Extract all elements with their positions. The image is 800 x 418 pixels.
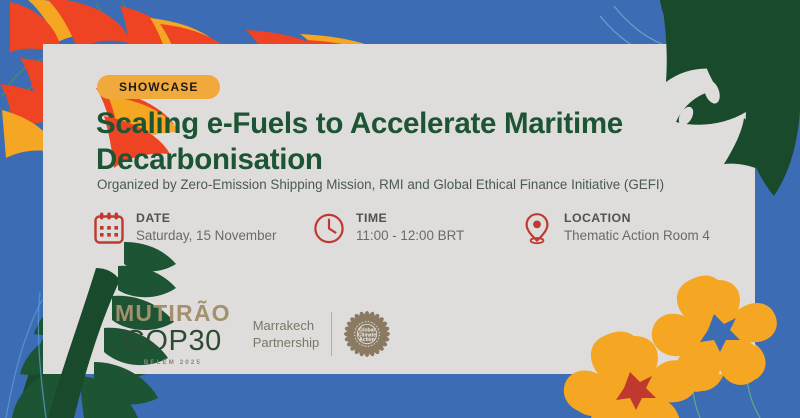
marrakech-line2: Partnership [253,334,319,352]
event-date-item: DATE Saturday, 15 November [93,211,276,245]
event-time-text: TIME 11:00 - 12:00 BRT [356,211,464,245]
clock-icon [313,211,345,245]
event-time-item: TIME 11:00 - 12:00 BRT [313,211,464,245]
event-poster: SHOWCASE Scaling e-Fuels to Accelerate M… [0,0,800,418]
gca-line3: Action [359,337,375,343]
map-pin-icon [521,211,553,245]
event-details-row: DATE Saturday, 15 November TIME 11:00 - … [93,211,743,261]
marrakech-partnership-text: Marrakech Partnership [253,317,319,352]
event-date-text: DATE Saturday, 15 November [136,211,276,245]
event-time-value: 11:00 - 12:00 BRT [356,227,464,245]
event-location-text: LOCATION Thematic Action Room 4 [564,211,710,245]
event-time-label: TIME [356,211,464,226]
event-title: Scaling e-Fuels to Accelerate Maritime D… [96,106,716,179]
event-title-line1: Scaling e-Fuels to Accelerate Maritime [96,107,623,140]
logo-row: MUTIRÃO COP30 BELÉM 2025 Marrakech Partn… [115,302,390,366]
logo-divider [331,312,332,356]
showcase-badge: SHOWCASE [97,75,220,99]
event-location-value: Thematic Action Room 4 [564,227,710,245]
event-location-label: LOCATION [564,211,710,226]
vine-lines-bottom-left [6,292,46,418]
global-climate-action-icon: Global Climate Action [344,311,390,357]
cop30-logo: MUTIRÃO COP30 BELÉM 2025 [115,302,231,366]
cop30-place-text: BELÉM 2025 [144,360,202,366]
event-organizers: Organized by Zero-Emission Shipping Miss… [97,176,747,193]
calendar-icon [93,211,125,245]
cop30-name-text: COP30 [124,327,222,356]
cop30-mutirao-text: MUTIRÃO [115,302,231,325]
card-content: SHOWCASE Scaling e-Fuels to Accelerate M… [43,44,755,374]
marrakech-line1: Marrakech [253,317,319,335]
event-title-line2: Decarbonisation [96,143,323,176]
event-location-item: LOCATION Thematic Action Room 4 [521,211,710,245]
event-date-label: DATE [136,211,276,226]
marrakech-partnership-logo: Marrakech Partnership [253,311,390,357]
event-date-value: Saturday, 15 November [136,227,276,245]
